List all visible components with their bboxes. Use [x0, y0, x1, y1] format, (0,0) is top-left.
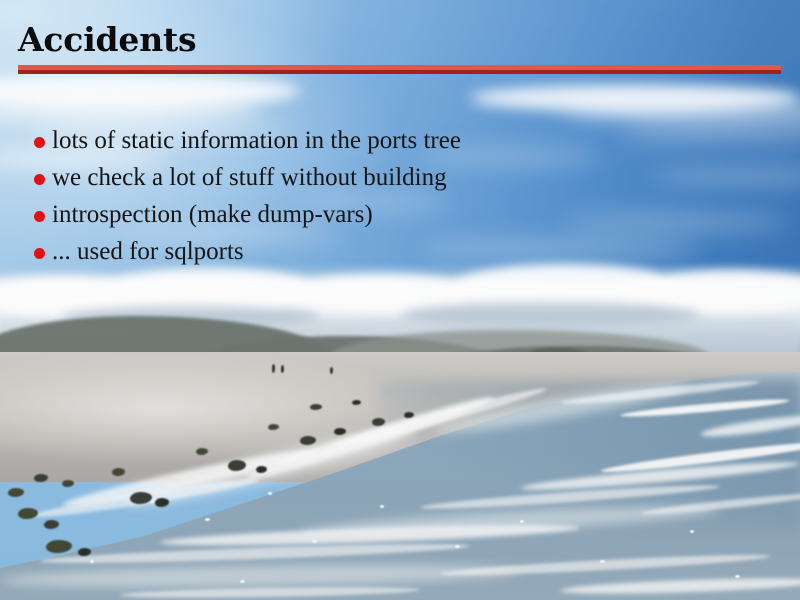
bullet-dot-icon: [34, 137, 45, 148]
list-item: we check a lot of stuff without building: [34, 163, 461, 200]
list-item-label: ... used for sqlports: [52, 237, 244, 267]
list-item-label: introspection (make dump-vars): [52, 200, 373, 230]
bullet-dot-icon: [34, 211, 45, 222]
bullet-list: lots of static information in the ports …: [34, 126, 461, 274]
bullet-dot-icon: [34, 174, 45, 185]
title-divider-bottom: [18, 70, 781, 74]
bullet-dot-icon: [34, 248, 45, 259]
slide-content: Accidents lots of static information in …: [0, 0, 800, 600]
page-title: Accidents: [18, 22, 196, 58]
list-item-label: we check a lot of stuff without building: [52, 163, 447, 193]
presentation-slide: Accidents lots of static information in …: [0, 0, 800, 600]
list-item: lots of static information in the ports …: [34, 126, 461, 163]
list-item-label: lots of static information in the ports …: [52, 126, 461, 156]
list-item: introspection (make dump-vars): [34, 200, 461, 237]
list-item: ... used for sqlports: [34, 237, 461, 274]
title-divider: [18, 65, 781, 74]
